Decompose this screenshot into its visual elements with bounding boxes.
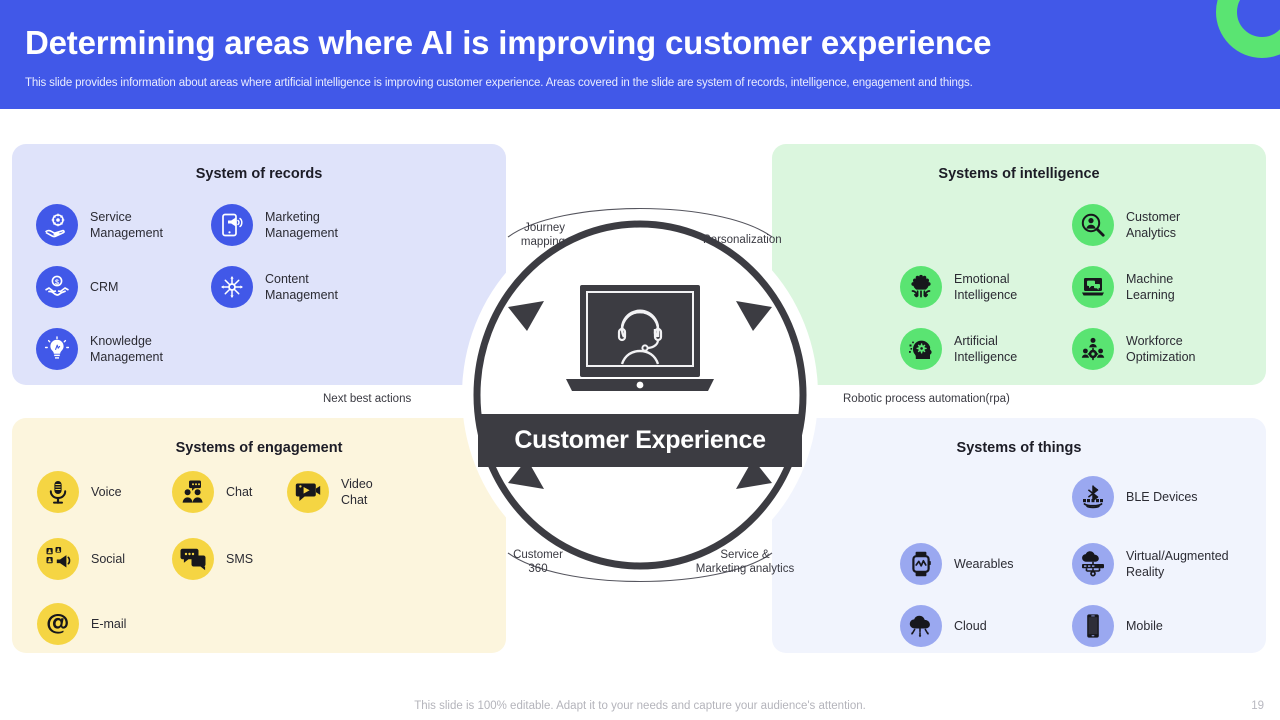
list-item-label: Wearables [954,556,1014,572]
list-item[interactable]: Video Chat [287,471,373,513]
list-item[interactable]: Machine Learning [1072,266,1175,308]
list-item-label: Video Chat [341,476,373,508]
panel-title-records: System of records [12,166,506,182]
laptop-chat-icon [1072,266,1114,308]
connector-label-customer-360: Customer 360 [503,548,573,577]
video-chat-icon [287,471,329,513]
panel-system-of-records: System of records Service Management Mar… [12,144,506,385]
list-item[interactable]: Chat [172,471,252,513]
network-hub-icon [211,266,253,308]
list-item[interactable]: Cloud [900,605,987,647]
svg-text:$: $ [55,279,59,286]
mobile-megaphone-icon [211,204,253,246]
list-item-label: Virtual/Augmented Reality [1126,548,1229,580]
connector-label-next-best-actions: Next best actions [323,393,411,405]
panel-title-intelligence: Systems of intelligence [772,166,1266,182]
list-item-label: Marketing Management [265,209,338,241]
list-item-label: E-mail [91,616,126,632]
panel-title-things: Systems of things [772,440,1266,456]
list-item[interactable]: Content Management [211,266,338,308]
list-item[interactable]: Customer Analytics [1072,204,1180,246]
connector-label-rpa: Robotic process automation(rpa) [843,393,1010,405]
handshake-coin-icon: $ [36,266,78,308]
list-item-label: Customer Analytics [1126,209,1180,241]
list-item-label: Voice [91,484,122,500]
list-item-label: BLE Devices [1126,489,1198,505]
list-item[interactable]: Virtual/Augmented Reality [1072,543,1229,585]
list-item-label: Artificial Intelligence [954,333,1017,365]
cloud-download-icon [900,605,942,647]
list-item-label: Service Management [90,209,163,241]
at-sign-icon [37,603,79,645]
panel-systems-of-engagement: Systems of engagement Voice [12,418,506,653]
list-item[interactable]: Voice [37,471,122,513]
connector-label-service-marketing-analytics: Service & Marketing analytics [686,548,804,577]
slide-header: Determining areas where AI is improving … [0,0,1280,109]
list-item[interactable]: SMS [172,538,253,580]
list-item-label: Mobile [1126,618,1163,634]
list-item[interactable]: Artificial Intelligence [900,328,1017,370]
head-gear-icon [900,328,942,370]
list-item-label: Emotional Intelligence [954,271,1017,303]
list-item-label: Knowledge Management [90,333,163,365]
list-item[interactable]: $ CRM [36,266,118,308]
speech-bubbles-icon [172,538,214,580]
social-megaphone-icon [37,538,79,580]
list-item-label: Social [91,551,125,567]
list-item-label: Chat [226,484,252,500]
list-item-label: SMS [226,551,253,567]
list-item[interactable]: Marketing Management [211,204,338,246]
list-item[interactable]: BLE Devices [1072,476,1198,518]
panel-systems-of-things: Systems of things BLE Devices [772,418,1266,653]
customer-experience-band: Customer Experience [478,414,802,467]
list-item-label: CRM [90,279,118,295]
customer-experience-diagram: Customer Experience [450,195,830,595]
list-item-label: Workforce Optimization [1126,333,1195,365]
list-item[interactable]: Wearables [900,543,1014,585]
cloud-network-icon [1072,543,1114,585]
page-subtitle: This slide provides information about ar… [25,77,973,89]
brain-hands-icon [900,266,942,308]
two-people-chat-icon [172,471,214,513]
list-item[interactable]: Service Management [36,204,163,246]
smartwatch-icon [900,543,942,585]
list-item[interactable]: Social [37,538,125,580]
laptop-support-agent-icon [564,285,716,403]
list-item[interactable]: E-mail [37,603,126,645]
list-item-label: Content Management [265,271,338,303]
mobile-phone-icon [1072,605,1114,647]
lightbulb-idea-icon [36,328,78,370]
panel-title-engagement: Systems of engagement [12,440,506,456]
bluetooth-devices-icon [1072,476,1114,518]
connector-label-personalization: Personalization [703,233,782,247]
panel-systems-of-intelligence: Systems of intelligence Customer Analyti… [772,144,1266,385]
page-number: 19 [1251,700,1264,712]
microphone-icon [37,471,79,513]
list-item[interactable]: Emotional Intelligence [900,266,1017,308]
list-item-label: Machine Learning [1126,271,1175,303]
list-item[interactable]: Workforce Optimization [1072,328,1195,370]
list-item[interactable]: Mobile [1072,605,1163,647]
decorative-ring-icon [1216,0,1280,58]
list-item[interactable]: Knowledge Management [36,328,163,370]
footer-note: This slide is 100% editable. Adapt it to… [0,700,1280,712]
customer-experience-label: Customer Experience [514,426,765,455]
list-item-label: Cloud [954,618,987,634]
people-gear-icon [1072,328,1114,370]
connector-label-journey-mapping: Journey mapping [505,221,565,250]
page-title: Determining areas where AI is improving … [25,24,991,62]
magnifier-person-icon [1072,204,1114,246]
hand-gear-icon [36,204,78,246]
